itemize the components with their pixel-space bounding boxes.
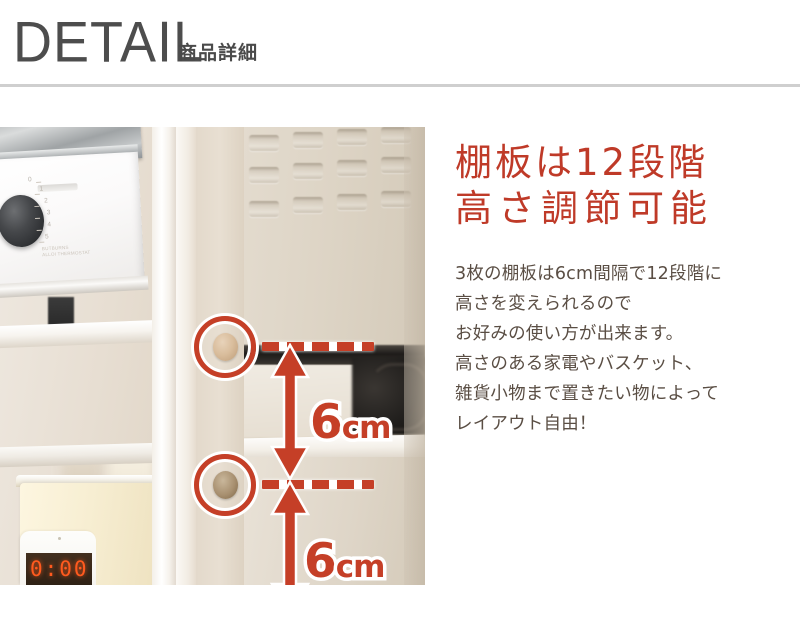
body-line-4: 高さのある家電やバスケット、	[455, 349, 795, 379]
detail-headline: 棚板は12段階 高さ調節可能	[455, 127, 795, 232]
microwave-indicator-dot	[58, 537, 61, 540]
shelf-slot	[293, 132, 323, 148]
toaster-oven: 0 1 2 3 4 5 BUTBURNS ALLOI THERMOSTAT	[0, 127, 150, 317]
rack-post-edge	[176, 127, 196, 585]
body-line-3: お好みの使い方が出来ます。	[455, 319, 795, 349]
oven-foot	[48, 297, 74, 325]
shelf-support-peg-top	[213, 333, 238, 361]
measurement-label-lower: 6cm	[304, 538, 384, 585]
shelf-screw-middle-head	[213, 471, 238, 499]
shelf-slot	[337, 129, 367, 145]
microwave-display-value: 0:00	[30, 559, 89, 580]
headline-line-2: 高さ調節可能	[455, 186, 795, 232]
shelf-slot	[249, 135, 279, 151]
body-line-6: レイアウト自由！	[455, 409, 795, 439]
measurement-label-upper: 6cm	[310, 399, 390, 446]
page-title-japanese: 商品詳細	[178, 44, 258, 63]
shelf-slot	[293, 163, 323, 179]
body-line-1: 3枚の棚板は6cm間隔で12段階に	[455, 259, 795, 289]
page-title-english: DETAIL	[13, 14, 204, 71]
page-header: DETAIL 商品詳細	[0, 0, 800, 86]
shelf-slot	[337, 160, 367, 176]
shelf-slot	[337, 194, 367, 210]
detail-body-copy: 3枚の棚板は6cm間隔で12段階に 高さを変えられるので お好みの使い方が出来ま…	[455, 232, 795, 439]
microwave-display: 0:00	[26, 553, 92, 585]
detail-text-column: 棚板は12段階 高さ調節可能 3枚の棚板は6cm間隔で12段階に 高さを変えられ…	[455, 127, 795, 439]
photo-right-wall	[404, 127, 425, 585]
body-line-2: 高さを変えられるので	[455, 289, 795, 319]
measurement-arrow-upper	[268, 343, 312, 481]
product-detail-photo: オーブンレンジ 0:00 0 1 2 3	[0, 127, 425, 585]
body-line-5: 雑貨小物まで置きたい物によって	[455, 379, 795, 409]
rack-post-white	[152, 127, 176, 585]
headline-line-1: 棚板は12段階	[455, 140, 795, 186]
oven-brand-text: BUTBURNS ALLOI THERMOSTAT	[42, 244, 91, 259]
shelf-slot	[249, 201, 279, 217]
shelf-slot	[293, 197, 323, 213]
shelf-slot	[249, 167, 279, 183]
header-divider	[0, 84, 800, 87]
